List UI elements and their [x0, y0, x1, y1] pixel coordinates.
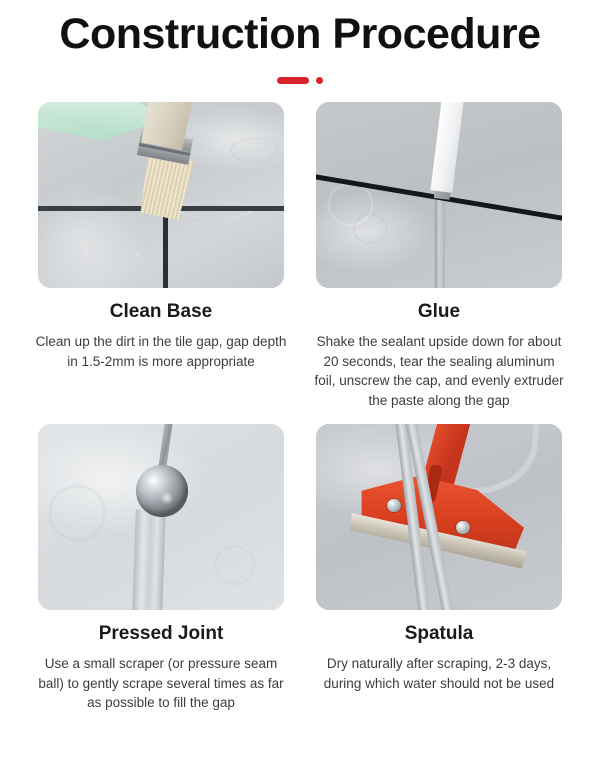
grout-line-vertical — [163, 206, 168, 288]
divider-bar-icon — [277, 77, 309, 84]
step-image-pressed-joint — [38, 424, 284, 610]
step-image-glue — [316, 102, 562, 288]
step-card-pressed-joint: Pressed Joint Use a small scraper (or pr… — [38, 424, 284, 712]
step-card-glue: Glue Shake the sealant upside down for a… — [316, 102, 562, 410]
page-title: Construction Procedure — [0, 10, 600, 58]
step-image-spatula — [316, 424, 562, 610]
step-image-clean-base — [38, 102, 284, 288]
step-description: Dry naturally after scraping, 2-3 days, … — [311, 654, 567, 693]
steps-grid: Clean Base Clean up the dirt in the tile… — [0, 102, 600, 713]
step-description: Clean up the dirt in the tile gap, gap d… — [33, 332, 289, 371]
step-description: Shake the sealant upside down for about … — [311, 332, 567, 410]
step-title: Spatula — [405, 623, 474, 646]
pressure-seam-ball-icon — [136, 465, 188, 517]
step-title: Glue — [418, 301, 460, 324]
step-title: Pressed Joint — [99, 623, 224, 646]
title-divider — [0, 75, 600, 85]
scraper-rivet-icon — [456, 521, 469, 534]
step-card-clean-base: Clean Base Clean up the dirt in the tile… — [38, 102, 284, 410]
step-card-spatula: Spatula Dry naturally after scraping, 2-… — [316, 424, 562, 712]
sealant-bead — [132, 509, 165, 610]
step-title: Clean Base — [110, 301, 212, 324]
construction-procedure-page: Construction Procedure Clean Base Clean … — [0, 0, 600, 773]
scraper-rivet-icon — [387, 499, 400, 512]
page-header: Construction Procedure — [0, 0, 600, 85]
step-description: Use a small scraper (or pressure seam ba… — [33, 654, 289, 713]
divider-dot-icon — [316, 77, 323, 84]
